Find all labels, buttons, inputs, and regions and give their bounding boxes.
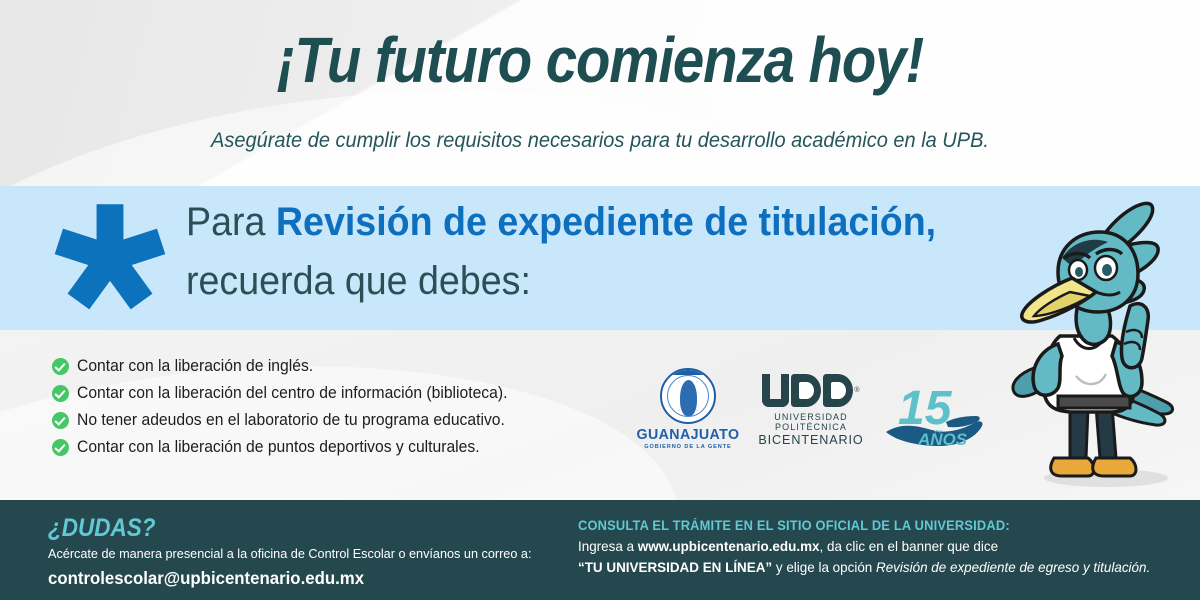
footer-line-two-suffix: , da clic en el banner que dice bbox=[820, 538, 999, 554]
footer-contact-email[interactable]: controlescolar@upbicentenario.edu.mx bbox=[48, 566, 547, 590]
footer-line-three-mid: y elige la opción bbox=[772, 559, 876, 575]
list-item-label: Contar con la liberación del centro de i… bbox=[77, 383, 507, 403]
upb-logo-line-one: UNIVERSIDAD POLITÉCNICA bbox=[747, 412, 874, 432]
anniversary-logo: 15 AÑOS bbox=[884, 372, 988, 452]
footer-option-name: Revisión de expediente de egreso y titul… bbox=[876, 559, 1150, 575]
footer-heading-consulta: CONSULTA EL TRÁMITE EN EL SITIO OFICIAL … bbox=[578, 516, 1164, 536]
list-item: Contar con la liberación de puntos depor… bbox=[52, 435, 612, 459]
footer-contact-block: ¿DUDAS? Acércate de manera presencial a … bbox=[48, 514, 568, 590]
svg-text:AÑOS: AÑOS bbox=[917, 429, 968, 449]
roadrunner-mascot bbox=[1000, 196, 1200, 496]
list-item-label: No tener adeudos en el laboratorio de tu… bbox=[77, 410, 505, 430]
band-line-one-prefix: Para bbox=[186, 200, 276, 244]
list-item-label: Contar con la liberación de inglés. bbox=[77, 356, 313, 376]
footer-procedure-line-three: “TU UNIVERSIDAD EN LÍNEA” y elige la opc… bbox=[578, 557, 1164, 578]
list-item-label: Contar con la liberación de puntos depor… bbox=[77, 437, 480, 457]
guanajuato-logo: GUANAJUATO GOBIERNO DE LA GENTE bbox=[628, 366, 748, 450]
footer-section: ¿DUDAS? Acércate de manera presencial a … bbox=[0, 500, 1200, 600]
asterisk-icon bbox=[54, 202, 166, 314]
guanajuato-seal-icon bbox=[660, 368, 716, 424]
upb-logo: ® UNIVERSIDAD POLITÉCNICA BICENTENARIO bbox=[746, 370, 876, 447]
footer-line-two-prefix: Ingresa a bbox=[578, 538, 638, 554]
crown-icon bbox=[671, 368, 705, 375]
check-circle-icon bbox=[52, 385, 69, 402]
page-subtitle: Asegúrate de cumplir los requisitos nece… bbox=[42, 126, 1158, 154]
band-line-one-highlight: Revisión de expediente de titulación, bbox=[276, 200, 936, 244]
requirements-list: Contar con la liberación de inglés. Cont… bbox=[52, 354, 612, 462]
footer-procedure-block: CONSULTA EL TRÁMITE EN EL SITIO OFICIAL … bbox=[578, 516, 1188, 578]
guanajuato-logo-tagline: GOBIERNO DE LA GENTE bbox=[628, 444, 748, 450]
footer-procedure-line-two: Ingresa a www.upbicentenario.edu.mx, da … bbox=[578, 536, 1164, 557]
logo-strip: GUANAJUATO GOBIERNO DE LA GENTE ® UNIVER… bbox=[628, 366, 988, 462]
footer-contact-description: Acércate de manera presencial a la ofici… bbox=[48, 544, 547, 563]
band-text-block: Para Revisión de expediente de titulació… bbox=[186, 192, 1016, 310]
band-line-one: Para Revisión de expediente de titulació… bbox=[186, 192, 966, 252]
list-item: Contar con la liberación de inglés. bbox=[52, 354, 612, 378]
check-circle-icon bbox=[52, 439, 69, 456]
footer-website-url[interactable]: www.upbicentenario.edu.mx bbox=[638, 538, 820, 554]
guanajuato-logo-name: GUANAJUATO bbox=[629, 427, 747, 443]
footer-heading-dudas: ¿DUDAS? bbox=[48, 514, 516, 542]
promotional-banner: ¡Tu futuro comienza hoy! Asegúrate de cu… bbox=[0, 0, 1200, 600]
upb-monogram-icon: ® bbox=[746, 370, 876, 410]
check-circle-icon bbox=[52, 412, 69, 429]
registered-trademark-icon: ® bbox=[854, 387, 859, 394]
hero-section: ¡Tu futuro comienza hoy! Asegúrate de cu… bbox=[0, 0, 1200, 186]
page-title: ¡Tu futuro comienza hoy! bbox=[72, 24, 1128, 96]
upb-logo-line-two: BICENTENARIO bbox=[746, 433, 876, 447]
check-circle-icon bbox=[52, 358, 69, 375]
guanajuato-figure-icon bbox=[680, 380, 697, 416]
band-line-two: recuerda que debes: bbox=[186, 252, 966, 310]
list-item: No tener adeudos en el laboratorio de tu… bbox=[52, 408, 612, 432]
footer-banner-quote: “TU UNIVERSIDAD EN LÍNEA” bbox=[578, 559, 772, 575]
list-item: Contar con la liberación del centro de i… bbox=[52, 381, 612, 405]
